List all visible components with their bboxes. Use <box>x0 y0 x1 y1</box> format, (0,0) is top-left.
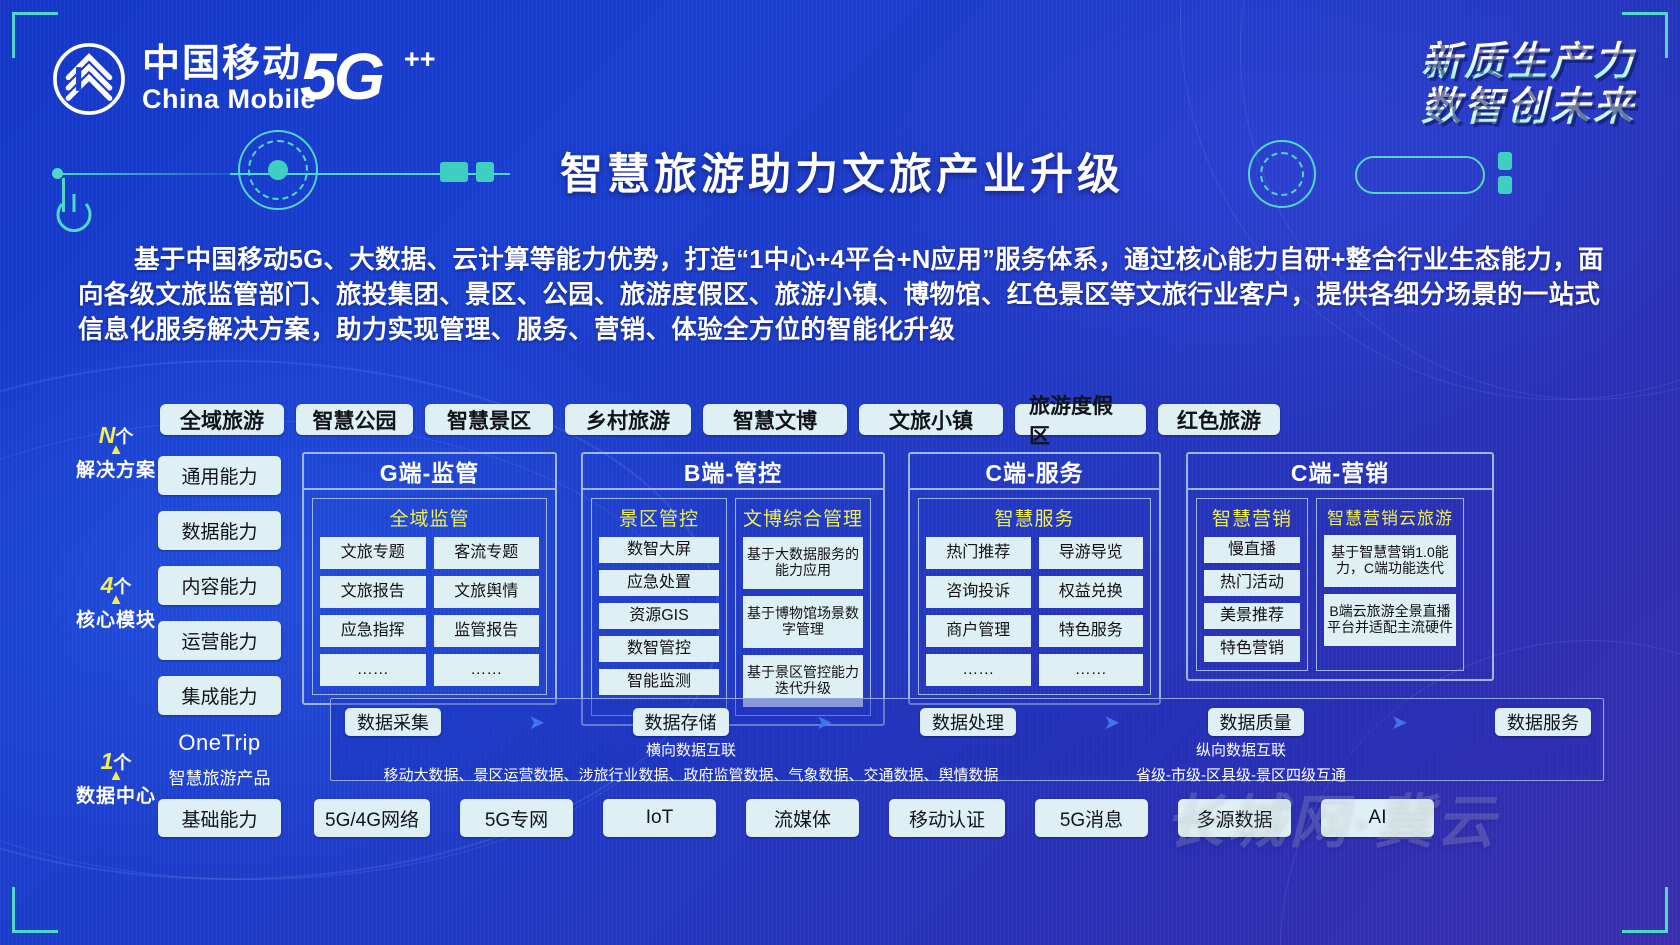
module-group: 景区管控数智大屏应急处置资源GIS数智管控智能监测 <box>591 498 727 716</box>
module-item[interactable]: 慢直播 <box>1204 537 1300 563</box>
slogan: 新质生产力 数智创未来 <box>1421 40 1636 130</box>
capability-chip[interactable]: 运营能力 <box>158 621 281 660</box>
rail-label-solutions: N个 ▲ 解决方案 <box>62 422 170 482</box>
module-item[interactable]: 监管报告 <box>434 615 540 647</box>
module-group-title: 文博综合管理 <box>743 504 863 531</box>
module-item-grid: 文旅专题客流专题文旅报告文旅舆情应急指挥监管报告………… <box>320 537 539 686</box>
solution-chip[interactable]: 智慧景区 <box>425 404 553 435</box>
power-icon <box>52 190 96 238</box>
module-c-service: C端-服务智慧服务热门推荐导游导览咨询投诉权益兑换商户管理特色服务………… <box>908 452 1161 705</box>
module-item[interactable]: 基于博物馆场景数字管理 <box>743 596 863 648</box>
module-group-title: 智慧服务 <box>926 504 1143 531</box>
solution-chip[interactable]: 红色旅游 <box>1158 404 1280 435</box>
module-item[interactable]: 智能监测 <box>599 669 719 695</box>
solution-chip[interactable]: 文旅小镇 <box>859 404 1003 435</box>
module-b-management: B端-管控景区管控数智大屏应急处置资源GIS数智管控智能监测文博综合管理基于大数… <box>581 452 885 726</box>
5g-label: 5G <box>300 39 382 113</box>
module-title: C端-营销 <box>1188 454 1492 490</box>
data-flow-chip[interactable]: 数据服务 <box>1495 708 1591 736</box>
module-item-grid: 基于智慧营销1.0能力，C端功能迭代B端云旅游全景直播平台并适配主流硬件 <box>1324 535 1456 646</box>
up-arrow-icon: ▲ <box>62 447 170 452</box>
module-item[interactable]: 咨询投诉 <box>926 576 1031 608</box>
module-item[interactable]: …… <box>434 654 540 686</box>
module-group: 智慧营销云旅游基于智慧营销1.0能力，C端功能迭代B端云旅游全景直播平台并适配主… <box>1316 498 1464 671</box>
header: 中国移动 China Mobile 5G ++ 新质生产力 数智创未来 <box>0 0 1680 232</box>
frame-corner-bottom-left <box>12 887 58 933</box>
rail-caption: 核心模块 <box>62 605 170 632</box>
pill-outline-shape <box>1355 156 1485 194</box>
module-item[interactable]: 美景推荐 <box>1204 603 1300 629</box>
module-item[interactable]: 热门推荐 <box>926 537 1031 569</box>
frame-corner-bottom-right <box>1622 887 1668 933</box>
page-title: 智慧旅游助力文旅产业升级 <box>560 140 1124 202</box>
module-item[interactable]: B端云旅游全景直播平台并适配主流硬件 <box>1324 594 1456 646</box>
5g-badge: 5G ++ <box>300 38 382 114</box>
module-item[interactable]: 文旅专题 <box>320 537 426 569</box>
solution-chip[interactable]: 全域旅游 <box>160 404 284 435</box>
module-title: C端-服务 <box>910 454 1159 490</box>
module-group-title: 景区管控 <box>599 504 719 531</box>
data-flow-chip[interactable]: 数据存储 <box>633 708 729 736</box>
brand-text: 中国移动 China Mobile <box>142 45 316 113</box>
module-item-grid: 基于大数据服务的能力应用基于博物馆场景数字管理基于景区管控能力迭代升级 <box>743 537 863 707</box>
horizontal-note-title: 横向数据互联 <box>341 739 1041 760</box>
data-flow-row: 数据采集➤数据存储➤数据处理➤数据质量➤数据服务 <box>345 708 1591 736</box>
base-tech-chip[interactable]: 5G专网 <box>460 799 573 837</box>
module-body: 智慧服务热门推荐导游导览咨询投诉权益兑换商户管理特色服务………… <box>910 490 1159 703</box>
module-item[interactable]: …… <box>1039 654 1144 686</box>
module-item-grid: 热门推荐导游导览咨询投诉权益兑换商户管理特色服务………… <box>926 537 1143 686</box>
module-group: 智慧营销慢直播热门活动美景推荐特色营销 <box>1196 498 1308 671</box>
module-body: 智慧营销慢直播热门活动美景推荐特色营销智慧营销云旅游基于智慧营销1.0能力，C端… <box>1188 490 1492 679</box>
right-arrow-icon: ➤ <box>1304 710 1496 735</box>
capability-chip[interactable]: 数据能力 <box>158 511 281 550</box>
module-group: 文博综合管理基于大数据服务的能力应用基于博物馆场景数字管理基于景区管控能力迭代升… <box>735 498 871 716</box>
intro-paragraph: 基于中国移动5G、大数据、云计算等能力优势，打造“1中心+4平台+N应用”服务体… <box>78 243 1605 349</box>
module-item[interactable]: 数智管控 <box>599 636 719 662</box>
ring-dashed-icon <box>1260 152 1304 196</box>
base-tech-chip[interactable]: 5G消息 <box>1035 799 1148 837</box>
module-item[interactable]: 数智大屏 <box>599 537 719 563</box>
right-arrow-icon: ➤ <box>729 710 921 735</box>
solution-chip-row: 全域旅游智慧公园智慧景区乡村旅游智慧文博文旅小镇旅游度假区红色旅游 <box>160 404 1280 435</box>
module-item-grid: 慢直播热门活动美景推荐特色营销 <box>1204 537 1300 662</box>
module-group-title: 全域监管 <box>320 504 539 531</box>
solution-chip[interactable]: 乡村旅游 <box>565 404 691 435</box>
module-item[interactable]: 资源GIS <box>599 603 719 629</box>
module-item[interactable]: 客流专题 <box>434 537 540 569</box>
base-tech-chip[interactable]: AI <box>1321 799 1434 837</box>
data-flow-chip[interactable]: 数据采集 <box>345 708 441 736</box>
solution-chip[interactable]: 智慧公园 <box>296 404 413 435</box>
module-item[interactable]: 权益兑换 <box>1039 576 1144 608</box>
base-capability-row: 基础能力5G/4G网络5G专网IoT流媒体移动认证5G消息多源数据AI <box>158 799 1464 837</box>
module-group-title: 智慧营销 <box>1204 504 1300 531</box>
capability-column: 通用能力数据能力内容能力运营能力集成能力 <box>158 456 281 715</box>
module-item[interactable]: …… <box>320 654 426 686</box>
vertical-data-note: 纵向数据互联 省级-市级-区县级-景区四级互通 <box>1031 739 1451 785</box>
module-item[interactable]: 文旅舆情 <box>434 576 540 608</box>
brand-name-en: China Mobile <box>142 85 316 113</box>
module-item[interactable]: 应急指挥 <box>320 615 426 647</box>
base-tech-chip[interactable]: IoT <box>603 799 716 837</box>
teal-square <box>1498 152 1512 170</box>
china-mobile-logo-icon <box>52 42 126 116</box>
solution-chip[interactable]: 智慧文博 <box>703 404 847 435</box>
base-capability-chip[interactable]: 基础能力 <box>158 799 281 837</box>
rail-label-core-modules: 4个 ▲ 核心模块 <box>62 572 170 632</box>
module-item[interactable]: …… <box>926 654 1031 686</box>
brand-lockup: 中国移动 China Mobile <box>52 42 316 116</box>
slogan-line-2: 数智创未来 <box>1421 85 1636 130</box>
slogan-line-1: 新质生产力 <box>1421 40 1636 85</box>
onetrip-product-label: OneTrip 智慧旅游产品 <box>152 730 287 789</box>
module-item[interactable]: 基于大数据服务的能力应用 <box>743 537 863 589</box>
module-group: 智慧服务热门推荐导游导览咨询投诉权益兑换商户管理特色服务………… <box>918 498 1151 695</box>
rail-caption: 解决方案 <box>62 455 170 482</box>
capability-chip[interactable]: 内容能力 <box>158 566 281 605</box>
right-arrow-icon: ➤ <box>441 710 633 735</box>
onetrip-desc: 智慧旅游产品 <box>152 764 287 789</box>
module-item[interactable]: 应急处置 <box>599 570 719 596</box>
module-title: B端-管控 <box>583 454 883 490</box>
module-item[interactable]: 导游导览 <box>1039 537 1144 569</box>
onetrip-name: OneTrip <box>152 730 287 756</box>
module-group: 全域监管文旅专题客流专题文旅报告文旅舆情应急指挥监管报告………… <box>312 498 547 695</box>
module-body: 全域监管文旅专题客流专题文旅报告文旅舆情应急指挥监管报告………… <box>304 490 555 703</box>
data-flow-chip[interactable]: 数据质量 <box>1208 708 1304 736</box>
module-item[interactable]: 商户管理 <box>926 615 1031 647</box>
module-g-supervision: G端-监管全域监管文旅专题客流专题文旅报告文旅舆情应急指挥监管报告………… <box>302 452 557 705</box>
up-arrow-icon: ▲ <box>62 597 170 602</box>
module-item[interactable]: 文旅报告 <box>320 576 426 608</box>
module-item-grid: 数智大屏应急处置资源GIS数智管控智能监测 <box>599 537 719 695</box>
module-item[interactable]: 热门活动 <box>1204 570 1300 596</box>
capability-chip[interactable]: 通用能力 <box>158 456 281 495</box>
teal-square <box>1498 176 1512 194</box>
module-item[interactable]: 特色营销 <box>1204 636 1300 662</box>
vertical-note-detail: 省级-市级-区县级-景区四级互通 <box>1031 764 1451 785</box>
module-item[interactable]: 特色服务 <box>1039 615 1144 647</box>
horizontal-data-note: 横向数据互联 移动大数据、景区运营数据、涉旅行业数据、政府监管数据、气象数据、交… <box>341 739 1041 785</box>
module-item[interactable]: 基于智慧营销1.0能力，C端功能迭代 <box>1324 535 1456 587</box>
base-tech-chip[interactable]: 移动认证 <box>889 799 1005 837</box>
5g-plus-superscript: ++ <box>404 44 436 75</box>
solution-chip[interactable]: 旅游度假区 <box>1015 404 1146 435</box>
decorative-swoosh <box>1280 640 1680 945</box>
capability-chip[interactable]: 集成能力 <box>158 676 281 715</box>
teal-square <box>440 162 468 182</box>
right-arrow-icon: ➤ <box>1016 710 1208 735</box>
base-tech-chip[interactable]: 流媒体 <box>746 799 859 837</box>
teal-square <box>476 162 494 182</box>
slide-canvas: 中国移动 China Mobile 5G ++ 新质生产力 数智创未来 <box>0 0 1680 945</box>
base-tech-chip[interactable]: 多源数据 <box>1178 799 1291 837</box>
vertical-note-title: 纵向数据互联 <box>1031 739 1451 760</box>
brand-name-cn: 中国移动 <box>142 45 316 85</box>
data-center-band: 数据采集➤数据存储➤数据处理➤数据质量➤数据服务 横向数据互联 移动大数据、景区… <box>330 698 1604 781</box>
module-c-marketing: C端-营销智慧营销慢直播热门活动美景推荐特色营销智慧营销云旅游基于智慧营销1.0… <box>1186 452 1494 681</box>
data-flow-chip[interactable]: 数据处理 <box>920 708 1016 736</box>
horizontal-note-detail: 移动大数据、景区运营数据、涉旅行业数据、政府监管数据、气象数据、交通数据、舆情数… <box>341 764 1041 785</box>
module-title: G端-监管 <box>304 454 555 490</box>
base-tech-chip[interactable]: 5G/4G网络 <box>314 799 430 837</box>
ring-center-dot <box>268 160 288 180</box>
module-group-title: 智慧营销云旅游 <box>1324 504 1456 529</box>
module-body: 景区管控数智大屏应急处置资源GIS数智管控智能监测文博综合管理基于大数据服务的能… <box>583 490 883 724</box>
